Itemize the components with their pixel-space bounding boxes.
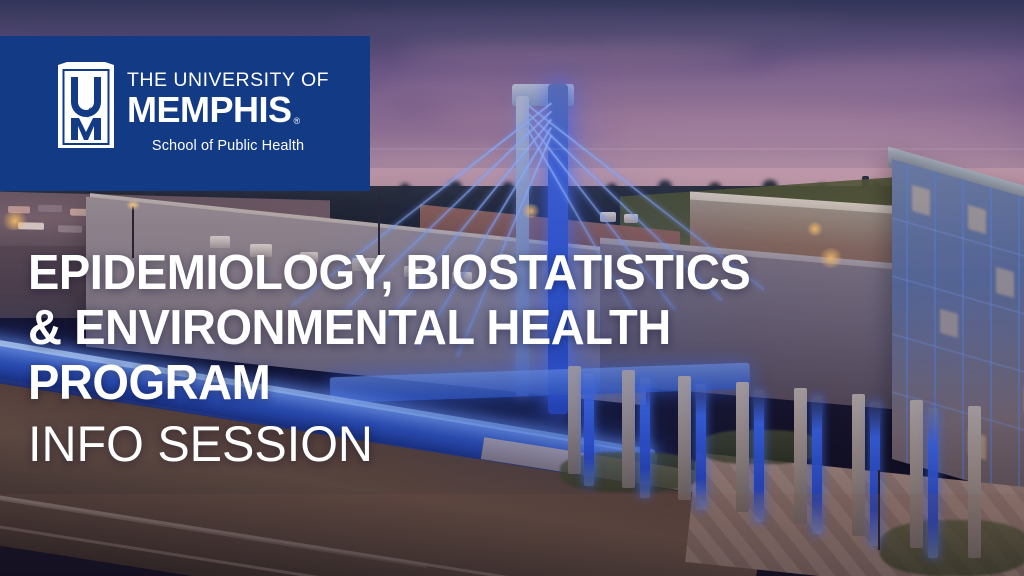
headline-subline: INFO SESSION xyxy=(28,414,901,474)
wordmark-memphis: MEMPHIS xyxy=(127,91,292,129)
poster-headline: EPIDEMIOLOGY, BIOSTATISTICS & ENVIRONMEN… xyxy=(28,246,928,474)
logo-lockup: of THE UNIVERSITY OF MEMPHIS® School of … xyxy=(58,62,329,154)
headline-line-2: & ENVIRONMENTAL HEALTH xyxy=(28,301,892,356)
uofm-shield-logo: of xyxy=(58,62,114,148)
headline-line-3: PROGRAM xyxy=(28,356,892,411)
headline-line-1: EPIDEMIOLOGY, BIOSTATISTICS xyxy=(28,246,892,301)
university-logo-banner: of THE UNIVERSITY OF MEMPHIS® School of … xyxy=(0,36,370,191)
event-poster: of THE UNIVERSITY OF MEMPHIS® School of … xyxy=(0,0,1024,576)
university-wordmark: THE UNIVERSITY OF MEMPHIS® School of Pub… xyxy=(127,62,329,154)
wordmark-line-main: MEMPHIS® xyxy=(127,91,329,129)
registered-trademark-icon: ® xyxy=(294,117,300,127)
wordmark-line-top: THE UNIVERSITY OF xyxy=(127,71,329,91)
school-subtitle: School of Public Health xyxy=(127,138,329,154)
